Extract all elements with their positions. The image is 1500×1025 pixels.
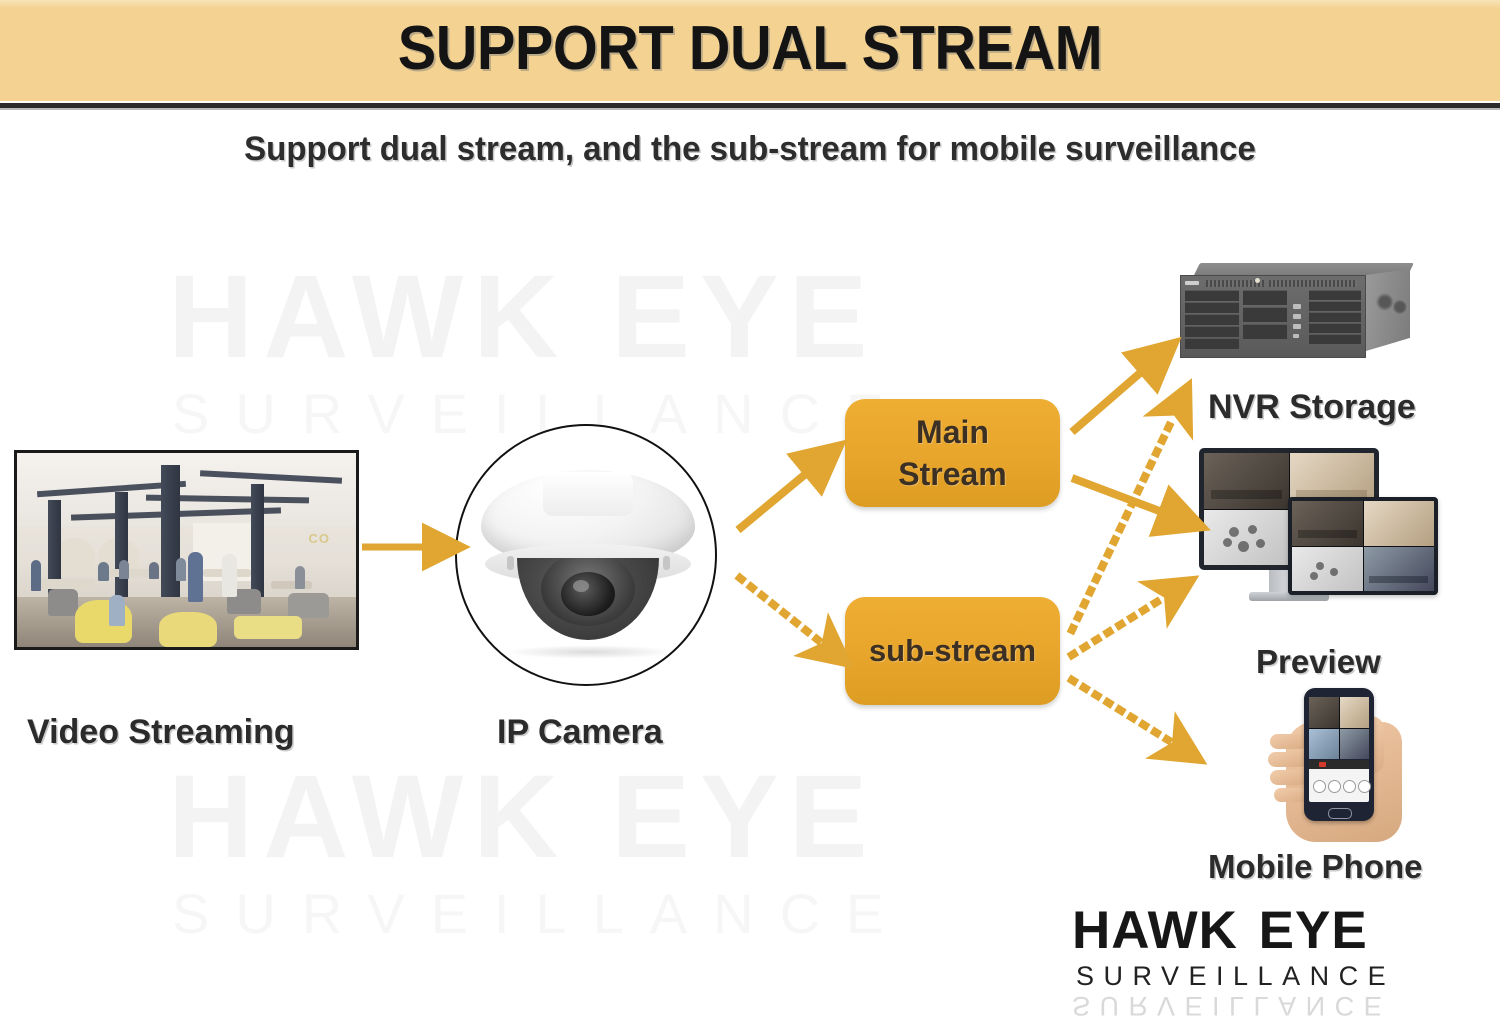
scene-chair bbox=[48, 589, 79, 616]
sub-stream-label: sub-stream bbox=[869, 630, 1036, 672]
page-title: SUPPORT DUAL STREAM bbox=[53, 13, 1448, 85]
camera-feed-cell bbox=[1309, 697, 1339, 728]
nvr-bay bbox=[1185, 314, 1239, 325]
arrow-sub-to-preview bbox=[1072, 600, 1160, 655]
arrow-sub-to-monitor bbox=[1072, 420, 1172, 630]
mic-button[interactable] bbox=[1328, 780, 1341, 793]
finger bbox=[1270, 734, 1308, 749]
watermark-hawkeye-bottom: HAWK EYE bbox=[168, 758, 877, 876]
finger bbox=[1268, 752, 1308, 767]
video-streaming-photo: CO bbox=[14, 450, 359, 650]
camera-screw bbox=[663, 556, 670, 570]
camera-shadow bbox=[505, 645, 675, 659]
scene-person-seated bbox=[109, 595, 126, 626]
logo-word-hawk: HAWK bbox=[1072, 901, 1238, 960]
play-button[interactable] bbox=[1358, 780, 1371, 793]
secondary-display-icon bbox=[1288, 497, 1438, 595]
nvr-bay bbox=[1309, 312, 1361, 322]
finger bbox=[1270, 770, 1308, 785]
scene-person bbox=[176, 558, 186, 581]
nvr-bay bbox=[1185, 326, 1239, 337]
arrow-camera-to-sub bbox=[740, 578, 818, 640]
camera-feed-cell bbox=[1204, 510, 1289, 566]
label-mobile-phone: Mobile Phone bbox=[1208, 848, 1423, 886]
camera-feed-cell bbox=[1204, 453, 1289, 509]
scene-person bbox=[149, 562, 159, 579]
camera-lens bbox=[561, 572, 615, 616]
smartphone-icon bbox=[1258, 688, 1438, 843]
dome-camera-icon bbox=[481, 470, 695, 640]
camera-screw bbox=[507, 556, 514, 570]
phone-toolbar[interactable] bbox=[1309, 760, 1369, 769]
phone-camera-grid bbox=[1309, 697, 1369, 759]
page-subtitle: Support dual stream, and the sub-stream … bbox=[23, 127, 1478, 171]
nvr-rack-icon bbox=[1180, 263, 1410, 358]
logo-tagline: SURVEILLANCE bbox=[1076, 961, 1476, 991]
scene-person bbox=[98, 562, 108, 581]
arrow-main-to-nvr bbox=[1072, 360, 1155, 432]
scene-wall-logo: CO bbox=[309, 531, 331, 546]
nvr-bay bbox=[1185, 302, 1239, 313]
nvr-side-panel bbox=[1366, 269, 1410, 351]
camera-top-tab bbox=[543, 472, 633, 516]
hawk-eye-logo: HAWK EYE SURVEILLANCE SURVEILLANCE bbox=[1072, 903, 1472, 1003]
nvr-bay bbox=[1243, 324, 1287, 339]
nvr-brand bbox=[1185, 281, 1199, 285]
camera-feed-cell bbox=[1309, 729, 1339, 760]
home-button[interactable] bbox=[1328, 808, 1352, 819]
ptz-button[interactable] bbox=[1313, 780, 1326, 793]
infographic-canvas: HAWK EYE SURVEILLANCE HAWK EYE SURVEILLA… bbox=[0, 0, 1500, 1025]
header-divider-shadow bbox=[0, 108, 1500, 110]
camera-feed-cell bbox=[1292, 547, 1363, 592]
watermark-hawkeye-top: HAWK EYE bbox=[168, 258, 877, 376]
nvr-bay bbox=[1309, 301, 1361, 311]
scene-person bbox=[119, 560, 129, 579]
nvr-button bbox=[1293, 334, 1299, 338]
arrow-main-to-preview bbox=[1072, 478, 1178, 518]
logo-wordmark: HAWK EYE bbox=[1072, 903, 1472, 959]
camera-feed-cell bbox=[1364, 547, 1435, 592]
camera-feed-cell bbox=[1292, 501, 1363, 546]
record-indicator bbox=[1319, 762, 1326, 767]
label-preview: Preview bbox=[1256, 643, 1381, 681]
label-nvr-storage: NVR Storage bbox=[1208, 388, 1416, 427]
scene-person bbox=[31, 560, 41, 591]
nvr-front-panel bbox=[1180, 275, 1366, 358]
nvr-bay bbox=[1185, 338, 1239, 349]
scene-table bbox=[102, 569, 156, 577]
nvr-led bbox=[1255, 278, 1260, 283]
finger bbox=[1274, 788, 1308, 802]
logo-tagline-reflection: SURVEILLANCE bbox=[1072, 991, 1472, 1021]
camera-feed-cell bbox=[1340, 729, 1370, 760]
scene-yellow-floor bbox=[234, 616, 302, 639]
camera-dome bbox=[517, 558, 659, 640]
nvr-bay bbox=[1243, 307, 1287, 322]
nvr-vent bbox=[1269, 280, 1357, 287]
tablet-camera-grid bbox=[1292, 501, 1434, 591]
nvr-bay bbox=[1243, 290, 1287, 305]
camera-lens-glint bbox=[573, 580, 589, 592]
sub-stream-box[interactable]: sub-stream bbox=[845, 597, 1060, 705]
scene-person bbox=[188, 552, 203, 602]
camera-feed-cell bbox=[1364, 501, 1435, 546]
scene-chair bbox=[288, 593, 329, 618]
camera-feed-cell bbox=[1340, 697, 1370, 728]
logo-word-eye: EYE bbox=[1259, 901, 1368, 960]
main-stream-label-line1: Main bbox=[898, 411, 1007, 453]
nvr-fan bbox=[1392, 299, 1408, 315]
scene-person bbox=[222, 554, 237, 597]
nvr-bay bbox=[1309, 334, 1361, 344]
office-scene: CO bbox=[17, 453, 356, 647]
nvr-bay bbox=[1309, 323, 1361, 333]
nvr-button bbox=[1293, 324, 1301, 329]
label-video-streaming: Video Streaming bbox=[27, 713, 295, 752]
nvr-bay bbox=[1309, 290, 1361, 300]
scene-table bbox=[271, 581, 312, 589]
main-stream-box[interactable]: Main Stream bbox=[845, 399, 1060, 507]
arrow-sub-to-phone bbox=[1072, 680, 1168, 740]
header-sheen bbox=[0, 0, 1500, 8]
main-stream-label-line2: Stream bbox=[898, 453, 1007, 495]
arrow-camera-to-main bbox=[738, 462, 820, 530]
stop-button[interactable] bbox=[1343, 780, 1356, 793]
nvr-button bbox=[1293, 314, 1301, 319]
scene-person bbox=[295, 566, 305, 589]
phone-body[interactable] bbox=[1304, 688, 1374, 821]
label-ip-camera: IP Camera bbox=[497, 713, 663, 752]
watermark-surveillance-bottom: SURVEILLANCE bbox=[172, 886, 909, 942]
nvr-bay bbox=[1185, 290, 1239, 301]
scene-yellow-seat bbox=[159, 612, 217, 647]
nvr-button bbox=[1293, 304, 1301, 309]
scene-table bbox=[37, 579, 95, 589]
